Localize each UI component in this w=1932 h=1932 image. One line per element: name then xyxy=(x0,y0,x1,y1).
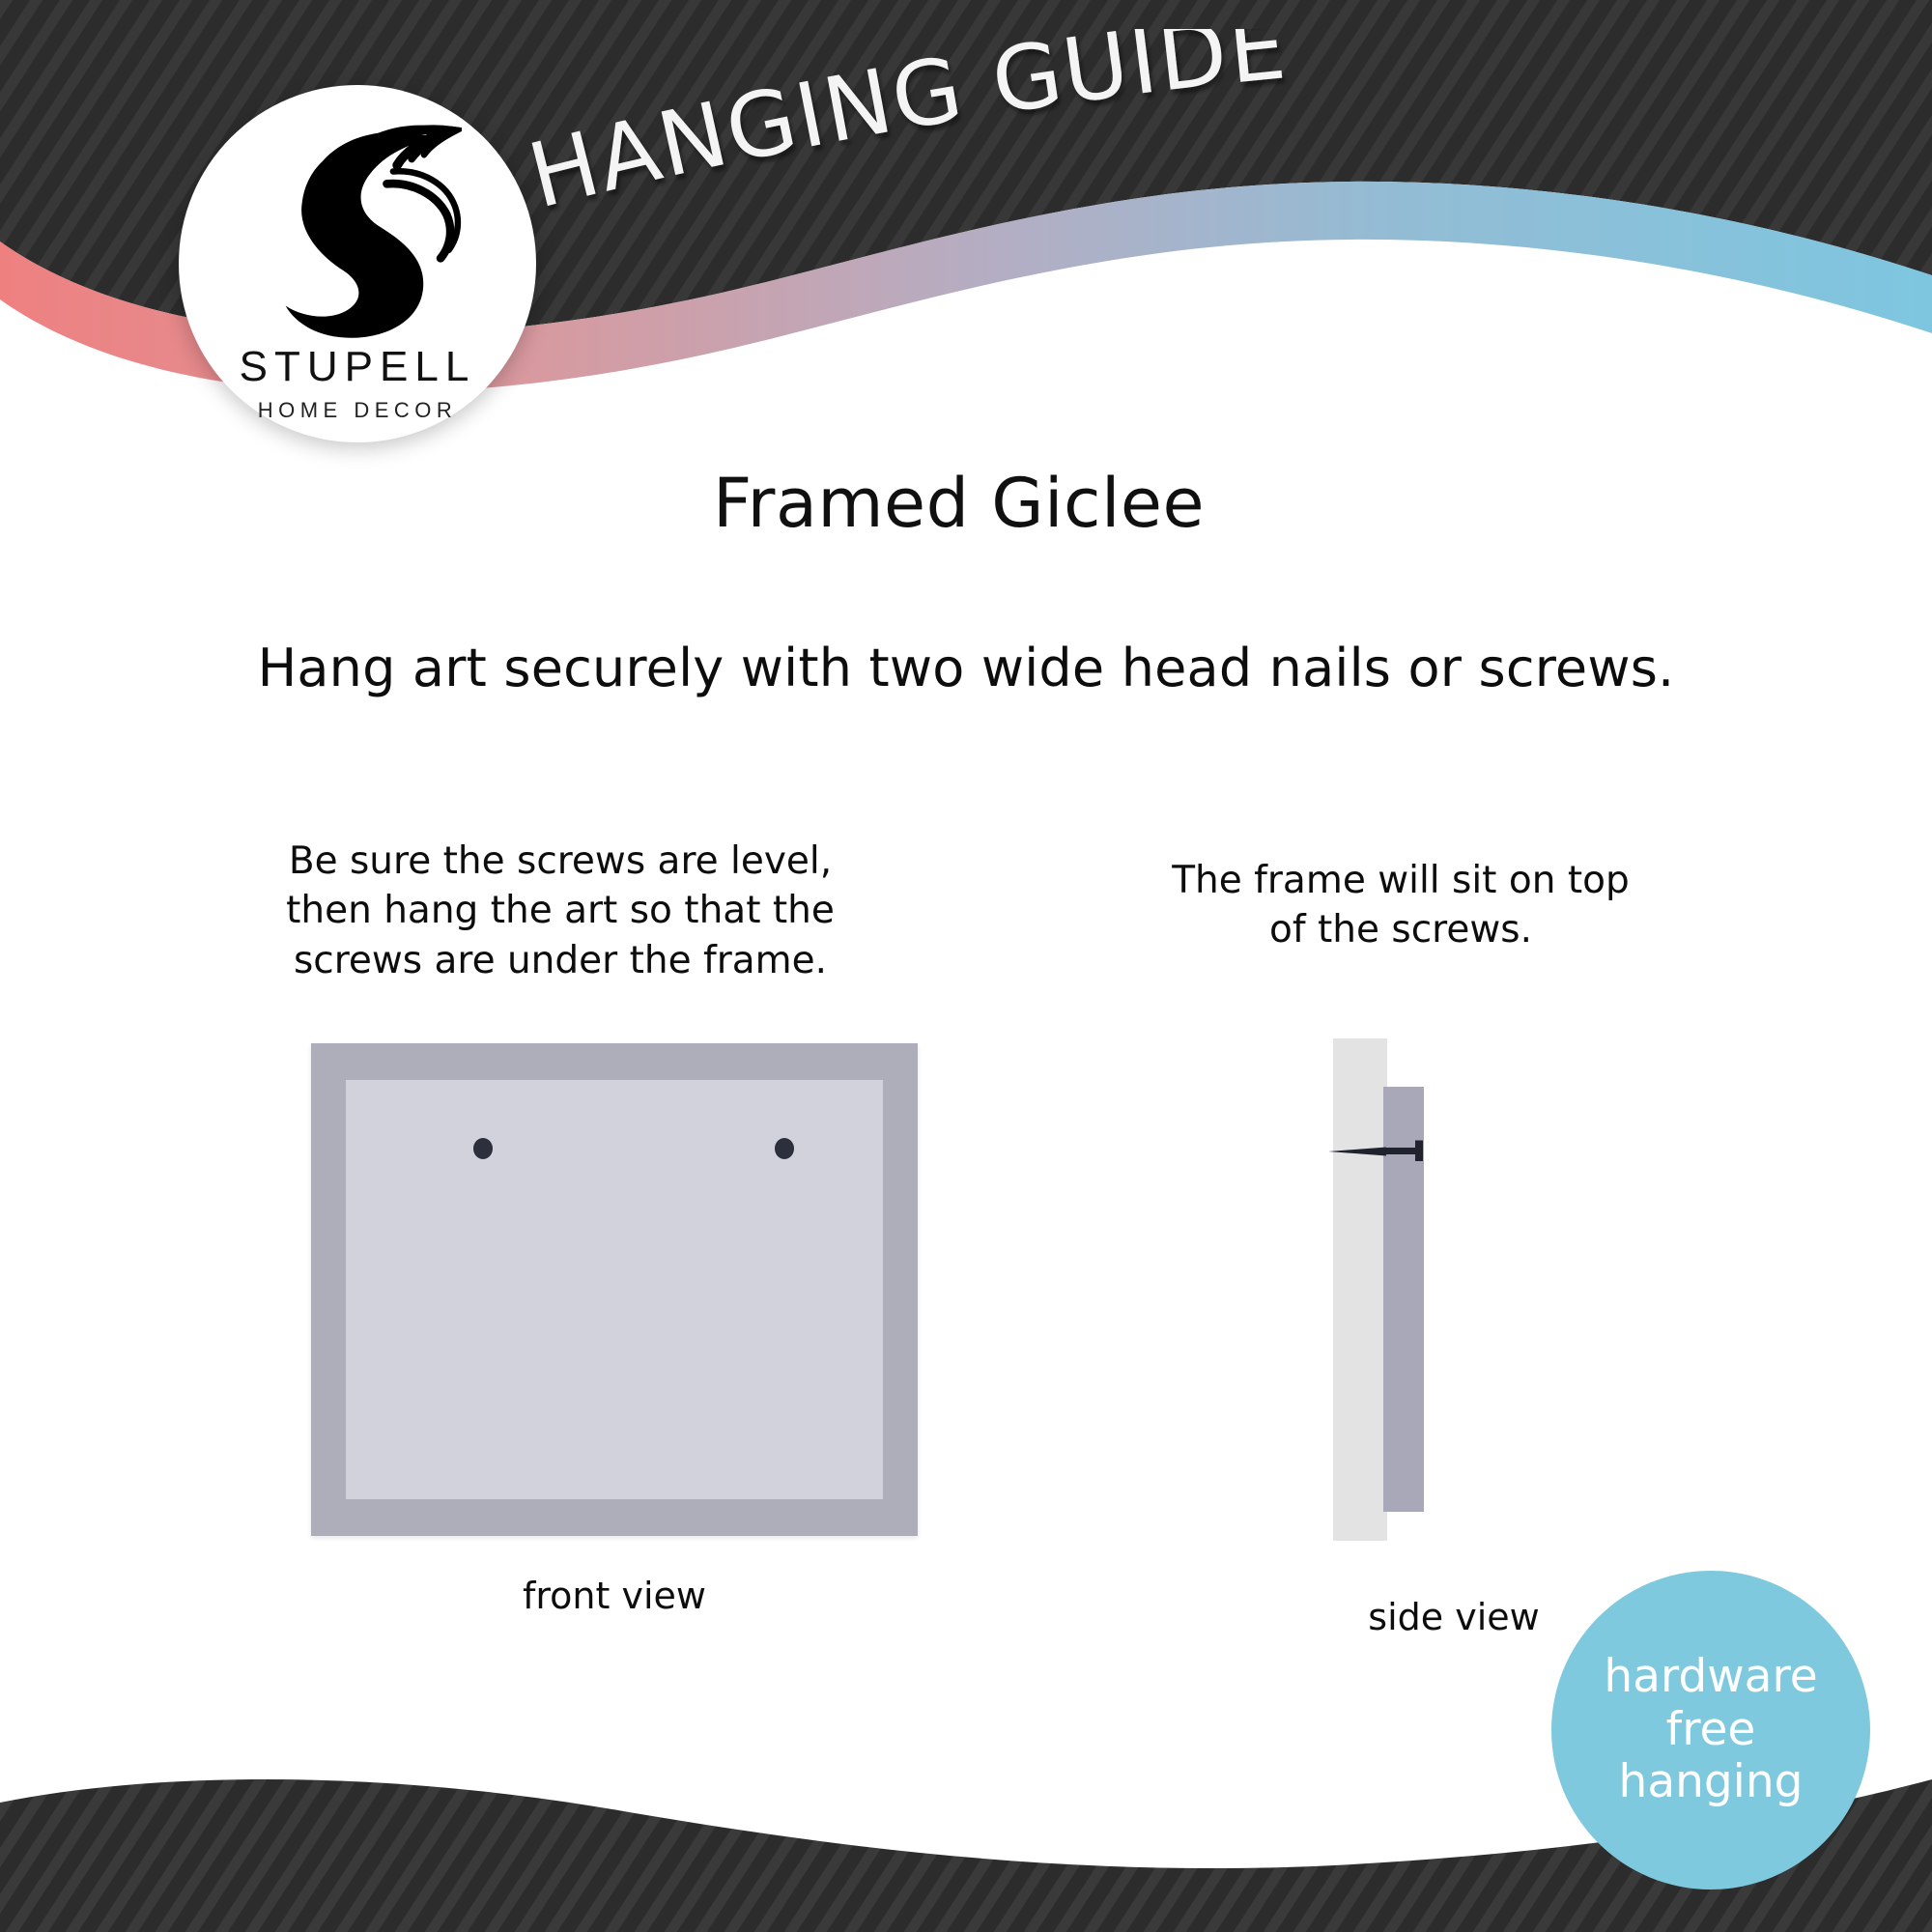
side-view-caption-line2: of the screws. xyxy=(1150,905,1652,954)
front-view-panel xyxy=(346,1080,883,1499)
front-view-caption: Be sure the screws are level, then hang … xyxy=(280,837,840,985)
badge-line2: free xyxy=(1666,1704,1756,1757)
stupell-swoosh-icon xyxy=(254,120,462,342)
screw-dot-left xyxy=(473,1138,493,1159)
side-view-diagram xyxy=(1333,1038,1575,1541)
logo-tagline: HOME DECOR xyxy=(258,400,458,421)
instruction-lede: Hang art securely with two wide head nai… xyxy=(0,638,1932,698)
front-view-caption-line3: screws are under the frame. xyxy=(280,936,840,985)
nail-icon xyxy=(1326,1138,1433,1163)
side-view-wall xyxy=(1333,1038,1387,1541)
logo-wordmark: STUPELL xyxy=(240,346,476,388)
front-view-caption-line2: then hang the art so that the xyxy=(280,886,840,935)
side-view-caption: The frame will sit on top of the screws. xyxy=(1150,856,1652,955)
screw-dot-right xyxy=(775,1138,794,1159)
side-view-caption-line1: The frame will sit on top xyxy=(1150,856,1652,905)
logo-badge: STUPELL HOME DECOR xyxy=(179,85,536,442)
badge-line3: hanging xyxy=(1619,1756,1804,1809)
hardware-free-hanging-badge: hardware free hanging xyxy=(1551,1571,1870,1889)
front-view-label: front view xyxy=(311,1575,918,1617)
badge-line1: hardware xyxy=(1604,1651,1817,1704)
front-view-caption-line1: Be sure the screws are level, xyxy=(280,837,840,886)
front-view-diagram xyxy=(311,1043,918,1536)
product-subtitle: Framed Giclee xyxy=(713,464,1205,543)
